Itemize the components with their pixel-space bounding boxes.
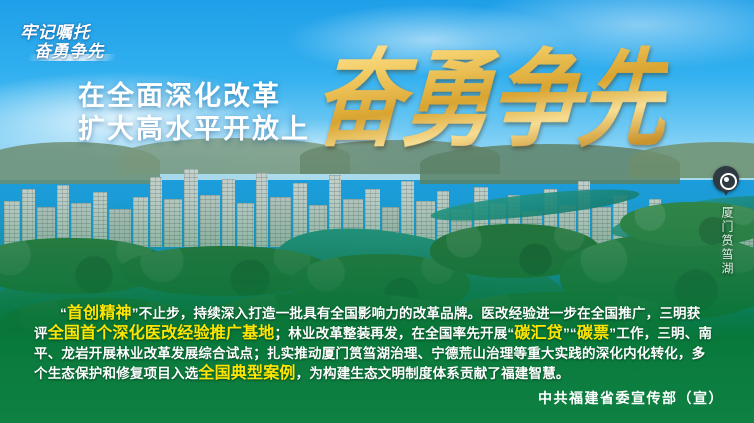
body-highlight: 碳票: [577, 325, 609, 342]
subtitle-block: 在全面深化改革 扩大高水平开放上: [78, 80, 310, 146]
body-copy: “首创精神”不止步，持续深入打造一批具有全国影响力的改革品牌。医改经验进一步在全…: [34, 304, 714, 384]
issuer-signature: 中共福建省委宣传部（宣）: [538, 388, 724, 408]
subtitle-line-2: 扩大高水平开放上: [78, 113, 310, 146]
body-text: “: [60, 306, 67, 321]
body-highlight: 全国首个深化医改经验推广基地: [48, 325, 275, 342]
campaign-badge: 牢记嘱托 奋勇争先: [14, 18, 122, 62]
headline-calligraphy: 奋勇争先: [310, 36, 670, 166]
body-highlight: 全国典型案例: [198, 365, 295, 382]
pin-dot: [724, 177, 729, 182]
body-highlight: 首创精神: [67, 305, 132, 322]
body-highlight: 碳汇贷: [514, 325, 563, 342]
location-label: 厦门筼筜湖: [719, 206, 736, 276]
map-pin-icon: [713, 166, 739, 192]
body-text: ；林业改革整装再发，在全国率先开展“: [275, 326, 515, 341]
subtitle-line-1: 在全面深化改革: [78, 80, 310, 113]
location-marker: 厦门筼筜湖: [709, 166, 743, 276]
body-text: ，为构建生态文明制度体系贡献了福建智慧。: [296, 366, 570, 381]
body-text: ”“: [563, 326, 577, 341]
poster-canvas: 牢记嘱托 奋勇争先 在全面深化改革 扩大高水平开放上 奋勇争先 厦门筼筜湖 “首…: [0, 0, 754, 423]
badge-line-2: 奋勇争先: [34, 37, 104, 62]
